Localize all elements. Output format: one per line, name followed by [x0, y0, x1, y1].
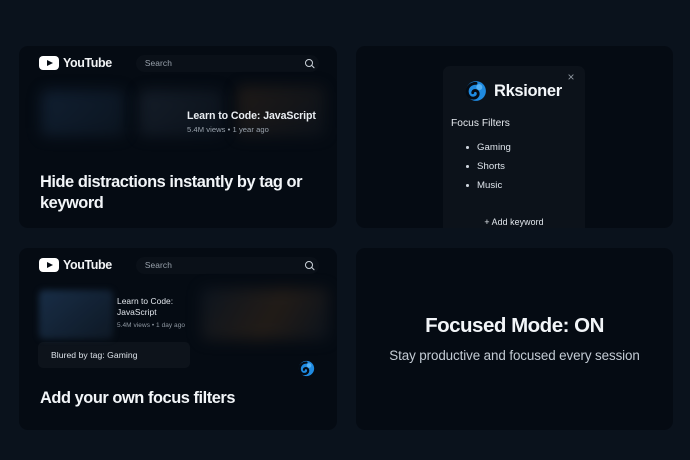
youtube-header-bottom-left: YouTube Search	[19, 248, 337, 282]
search-icon[interactable]	[305, 59, 313, 67]
video-title: Learn to Code: JavaScript	[187, 110, 316, 122]
blurred-thumbnail	[201, 288, 329, 340]
app-root: YouTube Search Learn to Code: JavaScript…	[0, 0, 690, 460]
focused-mode-block: Focused Mode: ON Stay productive and foc…	[356, 314, 673, 364]
blur-notice-label: Blured by tag: Gaming	[51, 350, 138, 360]
blurred-thumbnail	[41, 90, 125, 136]
panel-caption: Add your own focus filters	[40, 388, 320, 409]
search-input[interactable]: Search	[136, 55, 319, 72]
brand-lockup: Rksioner	[465, 80, 562, 102]
filter-item-shorts[interactable]: Shorts	[465, 157, 511, 176]
search-placeholder: Search	[145, 58, 172, 68]
search-placeholder: Search	[145, 260, 172, 270]
filter-item-gaming[interactable]: Gaming	[465, 138, 511, 157]
filter-item-music[interactable]: Music	[465, 176, 511, 195]
panel-hide-distractions: YouTube Search Learn to Code: JavaScript…	[19, 46, 337, 228]
video-stats: 5.4M views • 1 year ago	[187, 125, 316, 134]
youtube-play-icon	[39, 56, 59, 70]
youtube-logo-label: YouTube	[63, 56, 112, 70]
youtube-logo-label: YouTube	[63, 258, 112, 272]
focus-filters-card: Rksioner × Focus Filters Gaming Shorts M…	[443, 66, 585, 228]
video-meta-block: Learn to Code: JavaScript 5.4M views • 1…	[117, 296, 185, 329]
extension-badge[interactable]	[298, 360, 315, 382]
youtube-header-top-left: YouTube Search	[19, 46, 337, 80]
focus-filters-heading: Focus Filters	[451, 118, 510, 129]
search-icon[interactable]	[305, 261, 313, 269]
youtube-logo[interactable]: YouTube	[39, 258, 112, 272]
youtube-logo[interactable]: YouTube	[39, 56, 112, 70]
video-title-line1: Learn to Code:	[117, 296, 185, 307]
focused-mode-title: Focused Mode: ON	[374, 314, 655, 339]
blur-notice-card: Blured by tag: Gaming	[38, 342, 190, 368]
add-keyword-button[interactable]: + Add keyword	[443, 217, 585, 227]
close-icon[interactable]: ×	[565, 71, 577, 83]
spiral-logo-icon	[298, 360, 315, 377]
video-stats: 5.4M views • 1 day ago	[117, 322, 185, 329]
focused-mode-subtitle: Stay productive and focused every sessio…	[374, 346, 655, 364]
focus-filters-list: Gaming Shorts Music	[465, 138, 511, 195]
panel-add-focus-filters: YouTube Search Learn to Code: JavaScript…	[19, 248, 337, 430]
panel-caption: Hide distractions instantly by tag or ke…	[40, 172, 320, 215]
panel-focus-filters: Rksioner × Focus Filters Gaming Shorts M…	[356, 46, 673, 228]
youtube-play-icon	[39, 258, 59, 272]
blurred-thumbnail	[39, 290, 113, 339]
spiral-logo-icon	[465, 80, 487, 102]
brand-name: Rksioner	[494, 82, 562, 101]
panel-focused-mode: Focused Mode: ON Stay productive and foc…	[356, 248, 673, 430]
video-title-line2: JavaScript	[117, 307, 185, 318]
search-input[interactable]: Search	[136, 257, 319, 274]
video-meta-block: Learn to Code: JavaScript 5.4M views • 1…	[187, 110, 316, 134]
